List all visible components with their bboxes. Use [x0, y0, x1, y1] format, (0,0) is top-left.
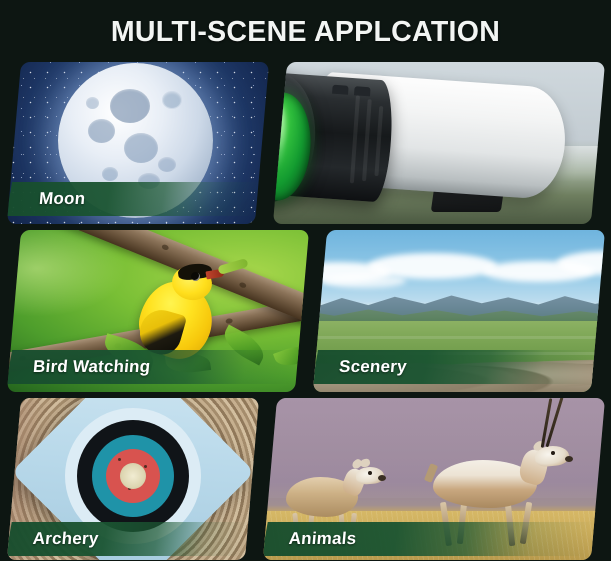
panel-bird-artwork	[7, 230, 309, 392]
moon-icon	[7, 62, 269, 224]
grid-row-2: Bird Watching	[0, 230, 611, 392]
rocky-gully	[313, 347, 605, 392]
target-icon	[7, 398, 259, 560]
panel-animals[interactable]: Animals	[263, 398, 605, 560]
panel-scenery[interactable]: Scenery	[313, 230, 605, 392]
page-title: MULTI-SCENE APPLCATION	[0, 0, 611, 47]
telescope-icon	[273, 62, 605, 224]
grid-row-1: Moon	[0, 62, 611, 224]
panel-moon[interactable]: Moon	[7, 62, 269, 224]
panel-scope[interactable]	[273, 62, 605, 224]
antelope-icon	[263, 398, 605, 560]
panel-animals-artwork	[263, 398, 605, 560]
panel-scenery-artwork	[313, 230, 605, 392]
antelope-juvenile	[282, 463, 386, 549]
panel-scope-artwork	[273, 62, 605, 224]
oriole-bird	[135, 256, 231, 364]
bird-icon	[7, 230, 309, 392]
panel-bird-watching[interactable]: Bird Watching	[7, 230, 309, 392]
panel-moon-artwork	[7, 62, 269, 224]
moon-disc	[58, 63, 213, 218]
target-bullseye	[120, 463, 146, 489]
grid-row-3: Archery	[0, 398, 611, 560]
panel-archery[interactable]: Archery	[7, 398, 259, 560]
antelope-adult	[425, 440, 573, 550]
scene-grid: Moon	[0, 62, 611, 552]
panel-archery-artwork	[7, 398, 259, 560]
mountain-icon	[313, 230, 605, 392]
